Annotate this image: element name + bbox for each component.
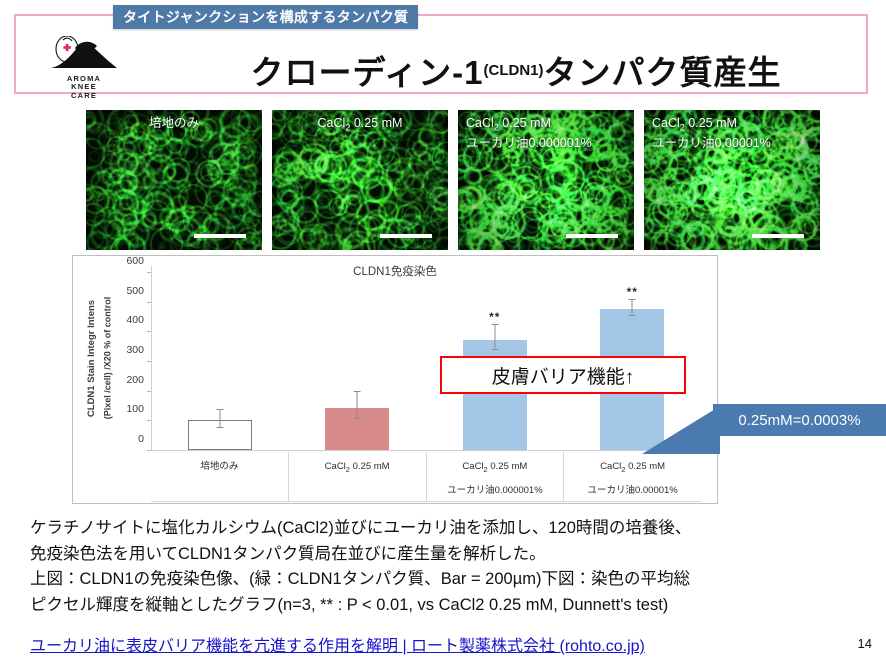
scale-bar — [752, 234, 804, 238]
chart-y-axis-line — [151, 266, 152, 451]
micrograph-image — [86, 110, 262, 250]
logo: AROMA KNEE CARE — [38, 36, 130, 106]
body-text: ケラチノサイトに塩化カルシウム(CaCl2)並びにユーカリ油を添加し、120時間… — [30, 516, 870, 618]
blue-callout-pointer-icon — [640, 404, 720, 456]
chart-y-tick-mark — [147, 272, 151, 273]
chart-y-tick-label: 0 — [138, 433, 151, 445]
page-number: 14 — [858, 636, 872, 651]
chart-x-axis-labels: 培地のみCaCl2 0.25 mMCaCl2 0.25 mMユーカリ油0.000… — [151, 452, 701, 502]
micrograph-image — [644, 110, 820, 250]
chart-x-tick-label: CaCl2 0.25 mMユーカリ油0.000001% — [427, 452, 565, 502]
chart-y-tick-mark — [147, 420, 151, 421]
blue-callout-box: 0.25mM=0.0003% — [713, 404, 886, 436]
micrograph-panel: CaCl2 0.25 mM ユーカリ油0.000001% — [458, 110, 634, 250]
chart-error-cap — [491, 349, 498, 350]
chart-y-tick-mark — [147, 450, 151, 451]
micrograph-panel: CaCl2 0.25 mM — [272, 110, 448, 250]
micrograph-panel: CaCl2 0.25 mM ユーカリ油0.00001% — [644, 110, 820, 250]
chart-error-bar — [632, 300, 633, 316]
scale-bar — [194, 234, 246, 238]
chart-y-axis-title-outer: CLDN1 Stain Integr Intens — [84, 268, 100, 448]
aroma-knee-care-logo-icon — [47, 36, 121, 72]
logo-text: AROMA KNEE CARE — [67, 75, 101, 100]
chart-y-axis-title-inner: (Pixel /cell) /X20 % of control — [99, 268, 115, 448]
chart-significance-marker: ** — [489, 314, 500, 320]
source-link[interactable]: ユーカリ油に表皮バリア機能を亢進する作用を解明 | ロート製薬株式会社 (roh… — [30, 632, 645, 656]
page-title-part2: (CLDN1) — [484, 62, 544, 79]
body-line-1: ケラチノサイトに塩化カルシウム(CaCl2)並びにユーカリ油を添加し、120時間… — [30, 516, 870, 542]
chart-error-cap — [491, 324, 498, 325]
chart-x-tick-label: 培地のみ — [151, 452, 289, 502]
chart-error-bar — [357, 392, 358, 420]
chart-y-tick-label: 400 — [126, 314, 151, 326]
red-callout-box: 皮膚バリア機能↑ — [440, 356, 686, 394]
chart-y-tick-label: 500 — [126, 285, 151, 297]
chart-error-cap — [629, 299, 636, 300]
body-line-2: 免疫染色法を用いてCLDN1タンパク質局在並びに産生量を解析した。 — [30, 542, 870, 568]
chart-y-tick-label: 100 — [126, 403, 151, 415]
chart-error-cap — [216, 427, 223, 428]
scale-bar — [380, 234, 432, 238]
chart-error-bar — [219, 410, 220, 427]
chart-error-cap — [354, 418, 361, 419]
chart-significance-marker: ** — [627, 289, 638, 295]
header-banner: タイトジャンクションを構成するタンパク質 — [113, 5, 418, 29]
chart-error-cap — [216, 409, 223, 410]
micrograph-image — [272, 110, 448, 250]
chart-y-tick-label: 200 — [126, 374, 151, 386]
chart-y-tick-mark — [147, 391, 151, 392]
slide: AROMA KNEE CARE クローディン-1 (CLDN1) タンパク質産生… — [0, 0, 886, 663]
body-line-4: ピクセル輝度を縦軸としたグラフ(n=3, ** : P < 0.01, vs C… — [30, 593, 870, 619]
chart-error-bar — [494, 325, 495, 350]
chart-y-tick-mark — [147, 361, 151, 362]
scale-bar — [566, 234, 618, 238]
chart-y-tick-mark — [147, 302, 151, 303]
chart-x-tick-label: CaCl2 0.25 mMユーカリ油0.00001% — [564, 452, 701, 502]
page-title-part1: クローディン-1 — [250, 46, 483, 94]
chart-error-cap — [354, 391, 361, 392]
micrograph-image — [458, 110, 634, 250]
micrograph-row: 培地のみ CaCl2 0.25 mM CaCl2 0.25 mM ユーカリ油0.… — [86, 110, 826, 250]
page-title: クローディン-1 (CLDN1) タンパク質産生 — [166, 42, 866, 98]
chart-x-tick-label: CaCl2 0.25 mM — [289, 452, 427, 502]
logo-line-3: CARE — [67, 92, 101, 100]
chart-y-tick-mark — [147, 331, 151, 332]
chart-y-tick-label: 300 — [126, 344, 151, 356]
page-title-part3: タンパク質産生 — [544, 46, 782, 94]
chart-error-cap — [629, 315, 636, 316]
chart-y-tick-label: 600 — [126, 255, 151, 267]
micrograph-panel: 培地のみ — [86, 110, 262, 250]
chart-x-axis-line — [151, 450, 701, 451]
body-line-3: 上図：CLDN1の免疫染色像、(緑：CLDN1タンパク質、Bar = 200µm… — [30, 567, 870, 593]
